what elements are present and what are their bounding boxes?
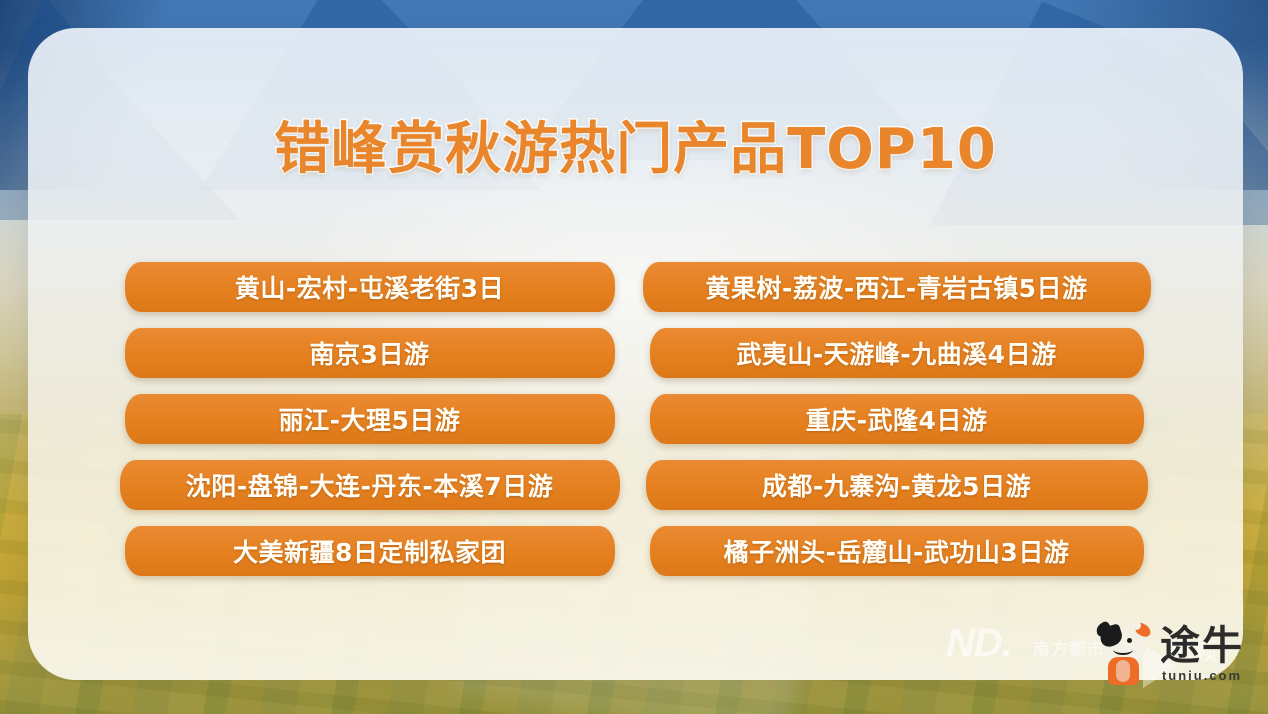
brand-domain: tuniu.com xyxy=(1160,668,1244,683)
product-pill[interactable]: 武夷山-天游峰-九曲溪4日游 xyxy=(650,328,1144,378)
product-grid: 黄山-宏村-屯溪老街3日 南京3日游 丽江-大理5日游 沈阳-盘锦-大连-丹东-… xyxy=(28,262,1243,576)
brand-logo: 途牛 tuniu.com xyxy=(1096,624,1244,686)
product-pill[interactable]: 丽江-大理5日游 xyxy=(125,394,615,444)
product-pill[interactable]: 黄果树-荔波-西江-青岩古镇5日游 xyxy=(643,262,1151,312)
product-label: 黄山-宏村-屯溪老街3日 xyxy=(235,269,504,305)
cow-smile xyxy=(1113,644,1133,655)
product-label: 大美新疆8日定制私家团 xyxy=(233,533,506,569)
cow-horn xyxy=(1132,621,1141,630)
product-label: 南京3日游 xyxy=(310,335,430,371)
cow-eye-left xyxy=(1112,638,1117,643)
product-label: 橘子洲头-岳麓山-武功山3日游 xyxy=(724,533,1070,569)
product-column-left: 黄山-宏村-屯溪老街3日 南京3日游 丽江-大理5日游 沈阳-盘锦-大连-丹东-… xyxy=(120,262,620,576)
cow-belly xyxy=(1116,660,1130,682)
cow-eye-right xyxy=(1127,638,1132,643)
product-label: 丽江-大理5日游 xyxy=(279,401,461,437)
product-pill[interactable]: 橘子洲头-岳麓山-武功山3日游 xyxy=(650,526,1144,576)
content-card: 错峰赏秋游热门产品TOP10 黄山-宏村-屯溪老街3日 南京3日游 丽江-大理5… xyxy=(28,28,1243,680)
product-pill[interactable]: 黄山-宏村-屯溪老街3日 xyxy=(125,262,615,312)
product-pill[interactable]: 重庆-武隆4日游 xyxy=(650,394,1144,444)
product-pill[interactable]: 成都-九寨沟-黄龙5日游 xyxy=(646,460,1148,510)
product-pill[interactable]: 大美新疆8日定制私家团 xyxy=(125,526,615,576)
product-label: 沈阳-盘锦-大连-丹东-本溪7日游 xyxy=(186,467,553,503)
product-label: 成都-九寨沟-黄龙5日游 xyxy=(762,467,1031,503)
product-label: 武夷山-天游峰-九曲溪4日游 xyxy=(736,335,1056,371)
brand-text-block: 途牛 tuniu.com xyxy=(1160,627,1244,682)
brand-name: 途牛 xyxy=(1160,627,1244,665)
watermark-outlet-abbr: ND. xyxy=(946,621,1012,666)
product-column-right: 黄果树-荔波-西江-青岩古镇5日游 武夷山-天游峰-九曲溪4日游 重庆-武隆4日… xyxy=(642,262,1152,576)
product-label: 重庆-武隆4日游 xyxy=(806,401,988,437)
product-pill[interactable]: 南京3日游 xyxy=(125,328,615,378)
product-pill[interactable]: 沈阳-盘锦-大连-丹东-本溪7日游 xyxy=(120,460,620,510)
title-container: 错峰赏秋游热门产品TOP10 xyxy=(28,104,1243,185)
poster-canvas: 错峰赏秋游热门产品TOP10 黄山-宏村-屯溪老街3日 南京3日游 丽江-大理5… xyxy=(0,0,1268,714)
page-title: 错峰赏秋游热门产品TOP10 xyxy=(274,104,997,185)
product-label: 黄果树-荔波-西江-青岩古镇5日游 xyxy=(705,269,1087,305)
cow-mascot-icon xyxy=(1096,624,1152,686)
